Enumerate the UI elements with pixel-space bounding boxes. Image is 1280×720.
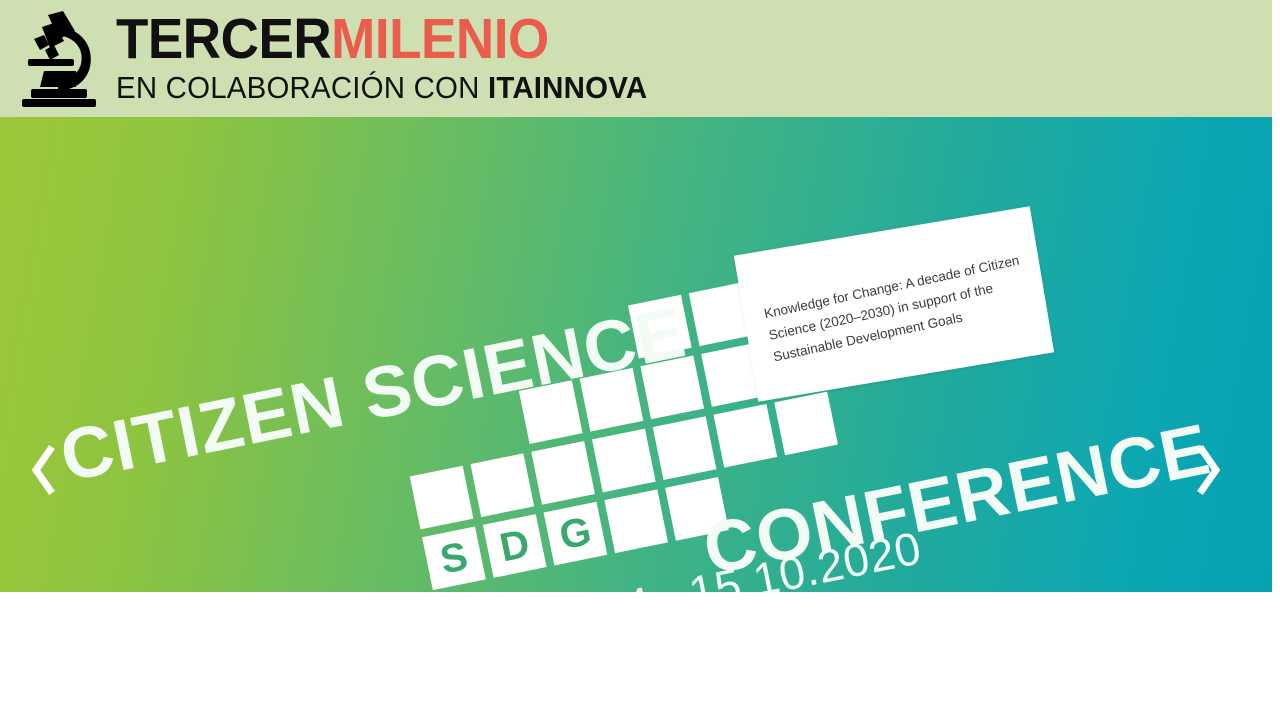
tile-blank xyxy=(713,404,777,468)
header-inner: TERCERMILENIO EN COLABORACIÓN CON ITAINN… xyxy=(0,9,675,109)
tile-blank xyxy=(604,489,668,553)
tile-blank xyxy=(470,453,534,517)
tile-spacer xyxy=(567,307,631,371)
brand-name-secondary: MILENIO xyxy=(331,7,549,71)
tile-spacer xyxy=(397,405,461,469)
tile-spacer xyxy=(507,320,571,384)
site-header: TERCERMILENIO EN COLABORACIÓN CON ITAINN… xyxy=(0,0,1272,117)
collaboration-prefix: EN COLABORACIÓN CON xyxy=(116,70,488,105)
brand-wordmark[interactable]: TERCERMILENIO xyxy=(116,12,636,68)
collaboration-line: EN COLABORACIÓN CON ITAINNOVA xyxy=(116,71,647,106)
tile-letter-s: S xyxy=(422,527,486,591)
carousel-next-button[interactable] xyxy=(1186,439,1228,501)
chevron-right-icon xyxy=(1186,439,1228,501)
collaboration-partner: ITAINNOVA xyxy=(488,70,647,105)
tile-blank xyxy=(653,416,717,480)
carousel-prev-button[interactable] xyxy=(24,439,66,501)
brand-block: TERCERMILENIO EN COLABORACIÓN CON ITAINN… xyxy=(116,12,675,106)
tile-blank xyxy=(774,392,838,456)
microscope-icon xyxy=(18,9,102,109)
brand-name-primary: TERCER xyxy=(116,7,331,71)
page-content-area xyxy=(0,592,1280,720)
tile-blank xyxy=(592,429,656,493)
chevron-left-icon xyxy=(24,439,66,501)
hero-note-card-text: Knowledge for Change: A decade of Citize… xyxy=(762,248,1040,368)
tile-blank xyxy=(628,295,692,359)
tile-spacer xyxy=(446,332,510,396)
tile-spacer xyxy=(385,344,449,408)
tile-blank xyxy=(410,466,474,530)
tile-letter-g: G xyxy=(544,502,608,566)
tile-blank xyxy=(665,477,729,541)
tile-blank xyxy=(640,356,704,420)
tile-blank xyxy=(580,368,644,432)
hero-note-card: Knowledge for Change: A decade of Citize… xyxy=(734,206,1054,401)
tile-letter-d: D xyxy=(483,514,547,578)
tile-blank xyxy=(531,441,595,505)
hero-carousel[interactable]: S D G CITIZEN SCIENCE CONFERENCE 14.–15.… xyxy=(0,117,1272,592)
tile-spacer xyxy=(458,393,522,457)
tile-blank xyxy=(519,380,583,444)
